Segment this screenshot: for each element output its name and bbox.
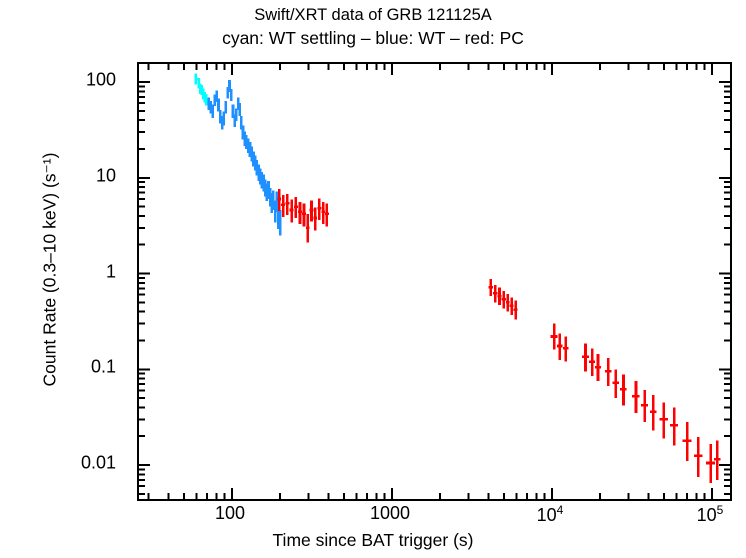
x-tick-label-3: 105 <box>697 503 724 526</box>
axis-ticks <box>139 64 730 499</box>
y-tick-label-1: 10 <box>96 165 116 186</box>
y-tick-label-2: 1 <box>106 261 116 282</box>
y-axis-tick-labels: 1001010.10.01 <box>0 0 130 558</box>
x-tick-label-0: 100 <box>215 503 245 524</box>
x-axis-title: Time since BAT trigger (s) <box>0 530 746 551</box>
series-pc <box>277 189 720 483</box>
x-tick-label-2: 104 <box>537 503 564 526</box>
y-tick-label-0: 100 <box>86 70 116 91</box>
x-tick-exponent-3: 5 <box>717 503 724 517</box>
x-tick-label-1: 1000 <box>370 503 410 524</box>
series-wt-settling <box>194 74 207 106</box>
y-tick-label-4: 0.01 <box>81 453 116 474</box>
y-axis-title: Count Rate (0.3–10 keV) (s⁻¹) <box>40 50 61 490</box>
xrt-lightcurve-figure: Swift/XRT data of GRB 121125A cyan: WT s… <box>0 0 746 558</box>
plot-svg <box>139 64 730 499</box>
plot-area <box>137 62 732 501</box>
y-tick-label-3: 0.1 <box>91 357 116 378</box>
x-tick-exponent-2: 4 <box>557 503 564 517</box>
series-wt <box>208 80 281 235</box>
